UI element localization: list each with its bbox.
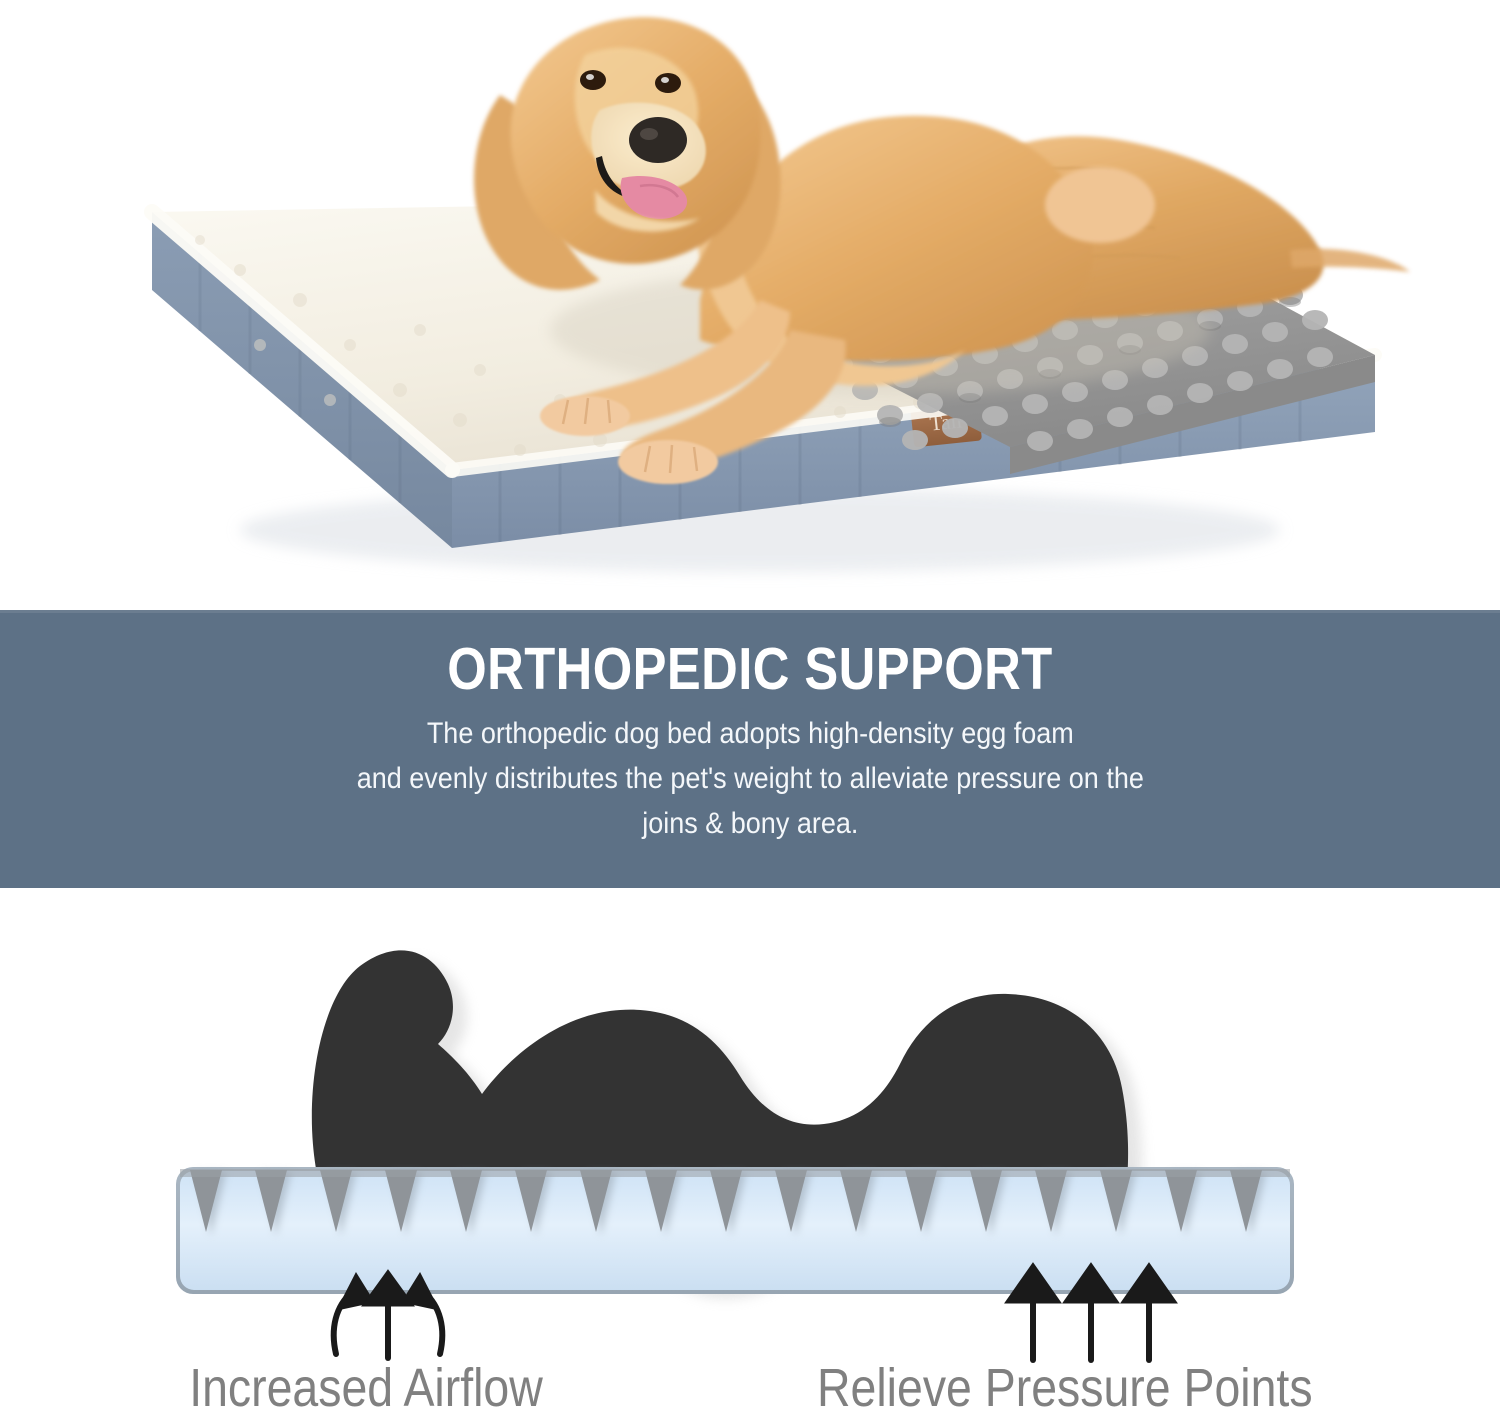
dog-eye-right-glint: [661, 77, 669, 83]
dog-eye-left-glint: [586, 74, 594, 80]
dog-nose-highlight: [640, 128, 658, 140]
label-relieve-pressure-points: Relieve Pressure Points: [817, 1357, 1313, 1416]
dog-eye-right: [655, 73, 681, 93]
orthopedic-support-banner: ORTHOPEDIC SUPPORT The orthopedic dog be…: [0, 610, 1500, 888]
banner-subtitle-line-3: joins & bony area.: [356, 801, 1143, 846]
banner-title: ORTHOPEDIC SUPPORT: [447, 639, 1052, 701]
product-photo-section: Tail: [0, 0, 1500, 610]
dog-paw-right: [618, 440, 718, 484]
product-photo-illustration: Tail: [0, 0, 1500, 610]
banner-subtitle: The orthopedic dog bed adopts high-densi…: [356, 711, 1143, 846]
pressure-arrows-group: [1005, 1263, 1177, 1360]
dog-rear-paw: [1045, 167, 1155, 243]
cross-section-diagram-section: Increased Airflow Relieve Pressure Point…: [0, 888, 1500, 1416]
dog-nose: [629, 117, 687, 163]
label-increased-airflow: Increased Airflow: [189, 1357, 543, 1416]
foam-cross-section-diagram: Increased Airflow Relieve Pressure Point…: [0, 888, 1500, 1416]
banner-subtitle-line-1: The orthopedic dog bed adopts high-densi…: [356, 711, 1143, 756]
banner-subtitle-line-2: and evenly distributes the pet's weight …: [356, 756, 1143, 801]
dog-eye-left: [580, 70, 606, 90]
foam-slab: [176, 1167, 1294, 1294]
